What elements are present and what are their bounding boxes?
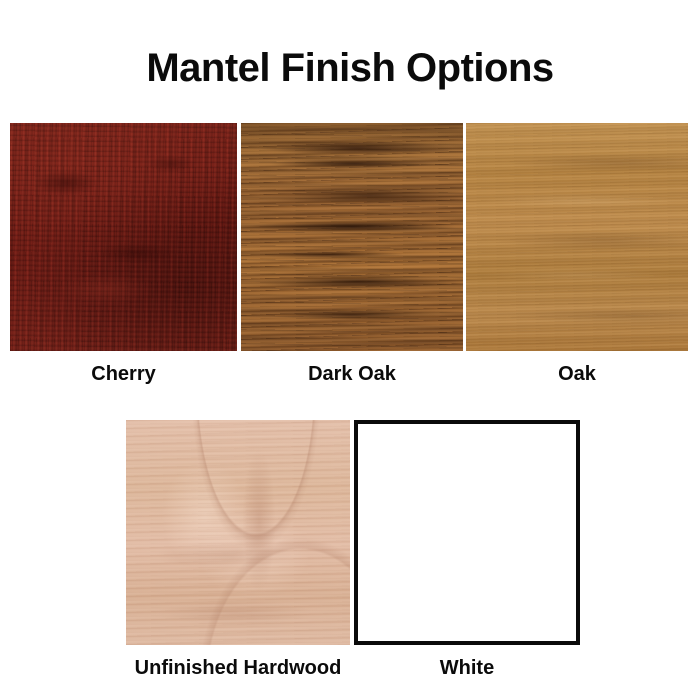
wood-grain-texture [241, 123, 463, 351]
swatch-oak[interactable] [466, 123, 688, 351]
swatch-label-white: White [354, 656, 580, 680]
finish-options-board: Mantel Finish Options Cherry Dark Oak Oa… [0, 0, 700, 700]
wood-shading-texture [241, 123, 463, 351]
swatch-white[interactable] [354, 420, 580, 645]
swatch-label-cherry: Cherry [10, 362, 237, 386]
wood-grain-texture [466, 123, 688, 351]
wood-grain-texture [10, 123, 237, 351]
wood-figure-texture [126, 420, 350, 645]
swatch-dark-oak[interactable] [241, 123, 463, 351]
page-title: Mantel Finish Options [0, 44, 700, 92]
wood-cathedral-texture [126, 420, 350, 645]
swatch-label-oak: Oak [466, 362, 688, 386]
swatch-cherry[interactable] [10, 123, 237, 351]
swatch-unfinished-hardwood[interactable] [126, 420, 350, 645]
wood-figure-texture [466, 123, 688, 351]
wood-figure-texture [241, 123, 463, 351]
wood-grain-texture [126, 420, 350, 645]
swatch-label-unfinished-hardwood: Unfinished Hardwood [120, 656, 356, 680]
swatch-label-dark-oak: Dark Oak [241, 362, 463, 386]
wood-figure-texture [10, 123, 237, 351]
